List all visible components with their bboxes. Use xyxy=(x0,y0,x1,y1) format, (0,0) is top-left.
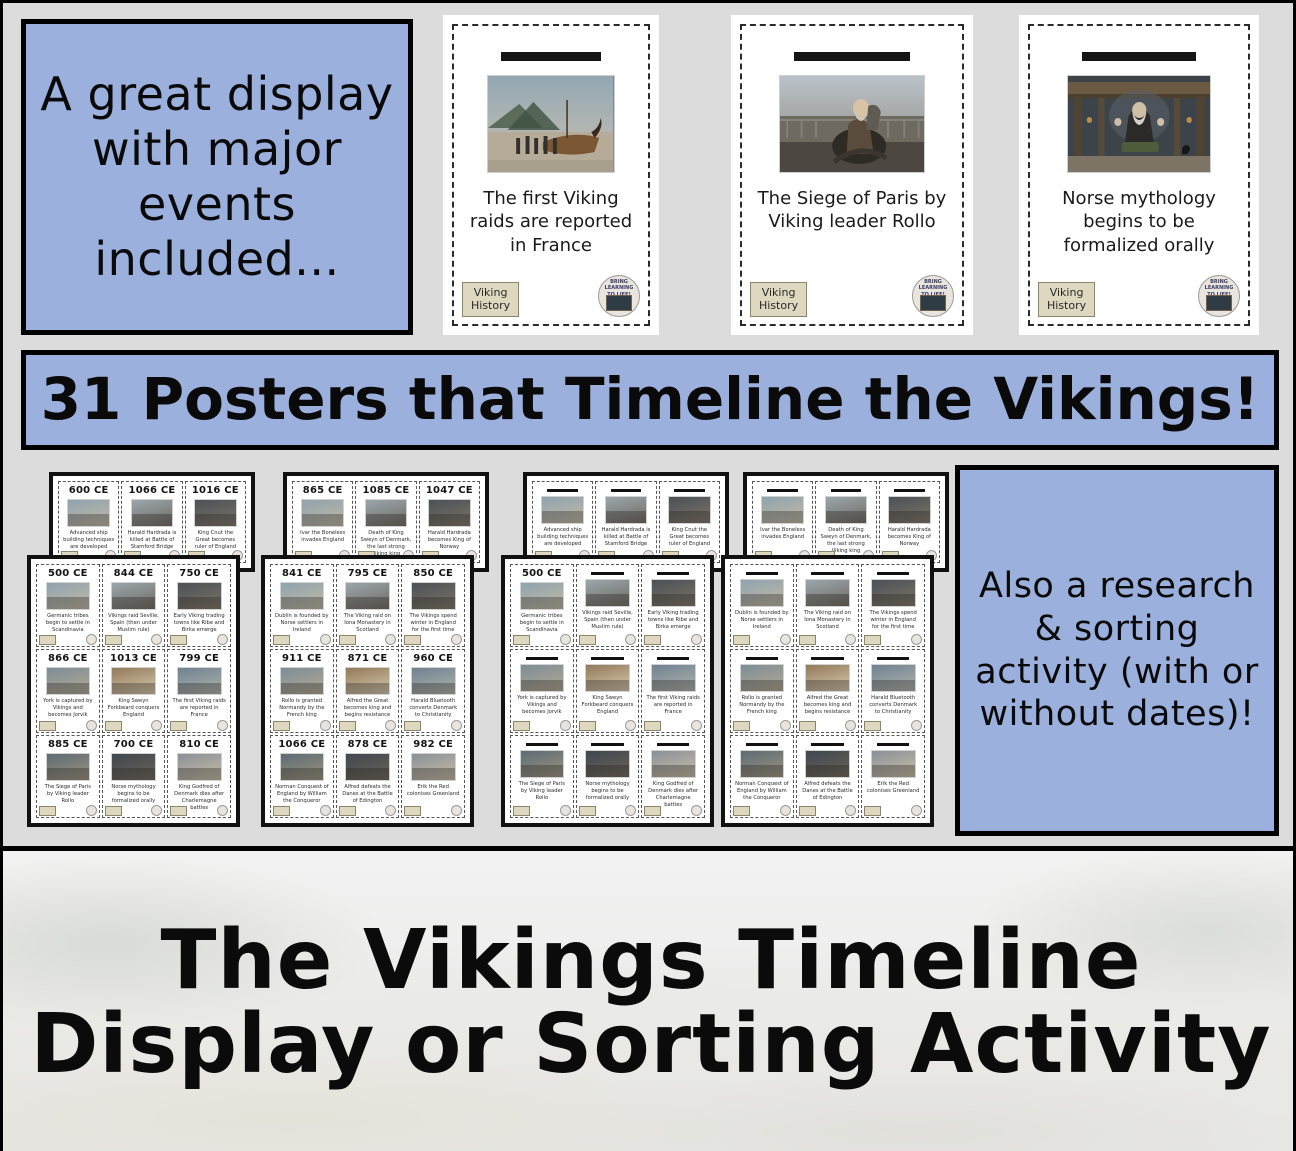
mini-card-badge-row xyxy=(644,636,702,645)
mini-card-image xyxy=(177,667,222,695)
mini-card-image xyxy=(805,750,850,778)
mini-brand-logo-icon xyxy=(691,720,702,731)
mini-card-image xyxy=(280,753,325,781)
callout-display-text: A great display with major events includ… xyxy=(26,67,408,288)
mini-card-badge-row xyxy=(404,807,462,816)
mini-card-date: 500 CE xyxy=(522,568,562,579)
mini-card-image xyxy=(345,667,390,695)
mini-brand-logo-icon xyxy=(217,634,228,645)
mini-subject-tag-badge xyxy=(170,635,187,645)
mini-subject-tag-badge xyxy=(644,806,661,816)
mini-card-badge-row xyxy=(170,807,228,816)
mini-card-blank-date-line xyxy=(591,657,623,660)
mini-card-badge-row xyxy=(579,807,637,816)
sorting-mini-card: Harald Hardrada is killed at Battle of S… xyxy=(595,481,656,563)
mini-card-image xyxy=(365,499,408,527)
mini-card-badge-row xyxy=(105,636,163,645)
mini-card-date: 850 CE xyxy=(413,568,453,579)
subject-tag-line1: Viking xyxy=(1047,286,1086,300)
mini-card-badge-row xyxy=(864,722,922,731)
subject-tag-badge: Viking History xyxy=(750,282,807,318)
mini-subject-tag-badge xyxy=(644,635,661,645)
sorting-mini-card: 799 CEThe first Viking raids are reporte… xyxy=(167,649,231,732)
mini-card-caption: King Sweyn Forkbeard conquers England xyxy=(105,698,163,719)
sorting-mini-card: 700 CENorse mythology begins to be forma… xyxy=(102,735,166,818)
sorting-mini-card: Ivar the Boneless invades England xyxy=(752,481,813,563)
sorting-mini-card: York is captured by Vikings and becomes … xyxy=(510,649,574,732)
mini-brand-logo-icon xyxy=(780,634,791,645)
mini-card-image xyxy=(668,496,711,524)
mini-card-date: 878 CE xyxy=(348,739,388,750)
mini-card-image xyxy=(177,582,222,610)
sorting-mini-card: 841 CEDublin is founded by Norse settler… xyxy=(270,564,334,647)
mini-card-image xyxy=(651,750,696,778)
mini-subject-tag-badge xyxy=(864,806,881,816)
mini-card-image xyxy=(111,753,156,781)
sorting-mini-card: 1047 CEHarald Hardrada becomes King of N… xyxy=(419,481,480,563)
mini-card-badge-row xyxy=(273,636,331,645)
mini-card-caption: Vikings raid Seville, Spain (then under … xyxy=(105,613,163,634)
mini-card-date: 1047 CE xyxy=(426,485,473,496)
mini-card-image xyxy=(46,667,91,695)
mini-card-image xyxy=(411,753,456,781)
mini-card-badge-row xyxy=(513,722,571,731)
mini-card-badge-row xyxy=(339,722,397,731)
mini-card-blank-date-line xyxy=(547,489,578,492)
mini-card-image xyxy=(740,664,785,692)
mini-card-date: 866 CE xyxy=(48,653,88,664)
mini-card-caption: The Vikings spend winter in England for … xyxy=(404,613,462,634)
mini-card-badge-row xyxy=(404,636,462,645)
sorting-mini-card: 885 CEThe Siege of Paris by Viking leade… xyxy=(36,735,100,818)
mini-card-caption: York is captured by Vikings and becomes … xyxy=(513,695,571,716)
mini-card-caption: Norman Conquest of England by William th… xyxy=(273,784,331,805)
mini-card-badge-row xyxy=(404,722,462,731)
mini-card-badge-row xyxy=(864,636,922,645)
mini-card-caption: Early Viking trading towns like Ribe and… xyxy=(644,610,702,631)
mini-brand-logo-icon xyxy=(780,720,791,731)
sorting-mini-card: Alfred defeats the Danes at the Battle o… xyxy=(796,735,860,818)
mini-brand-logo-icon xyxy=(451,720,462,731)
sorting-mini-card: King Sweyn Forkbeard conquers England xyxy=(576,649,640,732)
mini-card-image xyxy=(345,582,390,610)
mini-card-date: 700 CE xyxy=(114,739,154,750)
mini-brand-logo-icon xyxy=(625,634,636,645)
mini-subject-tag-badge xyxy=(273,806,290,816)
date-rule-icon xyxy=(1082,52,1197,61)
callout-panel-activity: Also a research & sorting activity (with… xyxy=(955,465,1279,836)
mini-card-image xyxy=(67,499,110,527)
sorting-mini-card: 1066 CENorman Conquest of England by Wil… xyxy=(270,735,334,818)
mini-brand-logo-icon xyxy=(217,720,228,731)
mini-card-image xyxy=(605,496,648,524)
mini-brand-logo-icon xyxy=(385,634,396,645)
subject-tag-badge: Viking History xyxy=(462,282,519,318)
mini-brand-logo-icon xyxy=(151,720,162,731)
mini-card-blank-date-line xyxy=(657,572,689,575)
mini-card-blank-date-line xyxy=(894,489,925,492)
sorting-mini-card: 871 CEAlfred the Great becomes king and … xyxy=(336,649,400,732)
mini-subject-tag-badge xyxy=(404,721,421,731)
mini-subject-tag-badge xyxy=(733,635,750,645)
hero-title-section: The Vikings Timeline Display or Sorting … xyxy=(3,846,1296,1151)
mini-card-caption: The Vikings spend winter in England for … xyxy=(864,610,922,631)
mini-card-badge-row xyxy=(799,636,857,645)
mini-card-image xyxy=(428,499,471,527)
mini-card-blank-date-line xyxy=(811,743,843,746)
card-sheet-front: 500 CEGermanic tribes begin to settle in… xyxy=(27,555,240,827)
mini-card-caption: Norse mythology begins to be formalized … xyxy=(579,781,637,802)
callout-panel-display: A great display with major events includ… xyxy=(21,19,413,335)
mini-card-caption: The Viking raid on Iona Monastery in Sco… xyxy=(799,610,857,631)
poster-image-siege-of-paris xyxy=(779,75,925,173)
mini-brand-logo-icon xyxy=(86,720,97,731)
mini-card-blank-date-line xyxy=(591,572,623,575)
sorting-mini-card: Dublin is founded by Norse settlers in I… xyxy=(730,564,794,647)
mini-subject-tag-badge xyxy=(579,721,596,731)
mini-subject-tag-badge xyxy=(339,635,356,645)
mini-card-badge-row xyxy=(644,807,702,816)
mini-card-image xyxy=(825,496,868,524)
mini-card-badge-row xyxy=(733,807,791,816)
mini-subject-tag-badge xyxy=(799,635,816,645)
mini-card-blank-date-line xyxy=(746,743,778,746)
mini-subject-tag-badge xyxy=(105,721,122,731)
subject-tag-line1: Viking xyxy=(759,286,798,300)
mini-subject-tag-badge xyxy=(39,806,56,816)
mini-card-badge-row xyxy=(339,807,397,816)
sorting-mini-card: 865 CEIvar the Boneless invades England xyxy=(292,481,353,563)
poster-image-norse-longhouse xyxy=(1067,75,1212,173)
mini-card-badge-row xyxy=(644,722,702,731)
mini-card-caption: Harald Hardrada is killed at Battle of S… xyxy=(598,527,653,548)
mini-card-image xyxy=(301,499,344,527)
headline-banner-text: 31 Posters that Timeline the Vikings! xyxy=(41,366,1260,433)
mini-card-caption: Early Viking trading towns like Ribe and… xyxy=(170,613,228,634)
mini-brand-logo-icon xyxy=(320,720,331,731)
mini-brand-logo-icon xyxy=(625,720,636,731)
mini-brand-logo-icon xyxy=(911,720,922,731)
mini-brand-logo-icon xyxy=(845,805,856,816)
card-sheet-front: 841 CEDublin is founded by Norse settler… xyxy=(261,555,474,827)
mini-card-caption: Harald Hardrada is killed at Battle of S… xyxy=(124,530,179,551)
mini-card-image xyxy=(651,579,696,607)
mini-card-date: 799 CE xyxy=(179,653,219,664)
sorting-mini-card: 750 CEEarly Viking trading towns like Ri… xyxy=(167,564,231,647)
mini-subject-tag-badge xyxy=(799,721,816,731)
poster-badge-row: Viking History BRING LEARNING TO LIFE! xyxy=(750,277,954,317)
mini-card-badge-row xyxy=(733,636,791,645)
mini-card-image xyxy=(520,582,565,610)
sorting-mini-card: 850 CEThe Vikings spend winter in Englan… xyxy=(401,564,465,647)
subject-tag-badge: Viking History xyxy=(1038,282,1095,318)
mini-card-blank-date-line xyxy=(746,657,778,660)
mini-brand-logo-icon xyxy=(217,805,228,816)
sorting-mini-card: 844 CEVikings raid Seville, Spain (then … xyxy=(102,564,166,647)
poster-caption: The Siege of Paris by Viking leader Roll… xyxy=(752,187,952,234)
mini-card-date: 982 CE xyxy=(413,739,453,750)
mini-card-badge-row xyxy=(339,636,397,645)
sorting-mini-card: Early Viking trading towns like Ribe and… xyxy=(641,564,705,647)
mini-card-caption: Dublin is founded by Norse settlers in I… xyxy=(733,610,791,631)
mini-card-caption: Rollo is granted Normandy by the French … xyxy=(273,698,331,719)
mini-subject-tag-badge xyxy=(39,721,56,731)
mini-subject-tag-badge xyxy=(799,806,816,816)
poster-badge-row: Viking History BRING LEARNING TO LIFE! xyxy=(462,277,640,317)
mini-card-date: 1013 CE xyxy=(110,653,157,664)
headline-banner: 31 Posters that Timeline the Vikings! xyxy=(21,350,1279,450)
mini-brand-logo-icon xyxy=(560,805,571,816)
mini-subject-tag-badge xyxy=(513,721,530,731)
sorting-mini-card: 1066 CEHarald Hardrada is killed at Batt… xyxy=(121,481,182,563)
mini-subject-tag-badge xyxy=(170,721,187,731)
mini-card-badge-row xyxy=(39,807,97,816)
poster-preview-card: The first Viking raids are reported in F… xyxy=(443,15,659,335)
poster-badge-row: Viking History BRING LEARNING TO LIFE! xyxy=(1038,277,1240,317)
mini-subject-tag-badge xyxy=(170,806,187,816)
mini-card-badge-row xyxy=(39,722,97,731)
mini-card-image xyxy=(740,579,785,607)
mini-card-caption: The first Viking raids are reported in F… xyxy=(170,698,228,719)
mini-card-date: 871 CE xyxy=(348,653,388,664)
sorting-mini-card: King Godfred of Denmark dies after Charl… xyxy=(641,735,705,818)
mini-card-date: 865 CE xyxy=(303,485,343,496)
mini-card-caption: The Viking raid on Iona Monastery in Sco… xyxy=(339,613,397,634)
mini-card-blank-date-line xyxy=(811,657,843,660)
mini-card-caption: Advanced ship building techniques are de… xyxy=(535,527,590,548)
mini-card-caption: Vikings raid Seville, Spain (then under … xyxy=(579,610,637,631)
mini-card-date: 1066 CE xyxy=(278,739,325,750)
mini-subject-tag-badge xyxy=(579,806,596,816)
mini-card-image xyxy=(651,664,696,692)
sorting-mini-card: 1013 CEKing Sweyn Forkbeard conquers Eng… xyxy=(102,649,166,732)
mini-card-caption: King Cnut the Great becomes ruler of Eng… xyxy=(662,527,717,548)
mini-subject-tag-badge xyxy=(733,721,750,731)
mini-subject-tag-badge xyxy=(404,806,421,816)
mini-card-image xyxy=(411,582,456,610)
sorting-mini-card: 500 CEGermanic tribes begin to settle in… xyxy=(510,564,574,647)
mini-card-blank-date-line xyxy=(877,572,909,575)
mini-card-date: 1016 CE xyxy=(192,485,239,496)
mini-card-caption: Erik the Red colonises Greenland xyxy=(404,784,462,798)
mini-card-image xyxy=(761,496,804,524)
mini-card-image xyxy=(411,667,456,695)
mini-card-date: 1085 CE xyxy=(363,485,410,496)
mini-subject-tag-badge xyxy=(404,635,421,645)
card-sheet-group: 865 CEIvar the Boneless invades England1… xyxy=(261,458,501,843)
mini-card-caption: Alfred the Great becomes king and begins… xyxy=(339,698,397,719)
mini-card-date: 795 CE xyxy=(348,568,388,579)
mini-card-image xyxy=(871,664,916,692)
mini-subject-tag-badge xyxy=(273,721,290,731)
mini-card-blank-date-line xyxy=(657,657,689,660)
mini-brand-logo-icon xyxy=(151,805,162,816)
mini-card-badge-row xyxy=(799,807,857,816)
mini-card-badge-row xyxy=(39,636,97,645)
mini-card-image xyxy=(280,667,325,695)
mini-card-date: 911 CE xyxy=(282,653,322,664)
mini-brand-logo-icon xyxy=(560,634,571,645)
mini-card-image xyxy=(805,579,850,607)
product-cover-page: A great display with major events includ… xyxy=(0,0,1296,1151)
subject-tag-line1: Viking xyxy=(471,286,510,300)
mini-card-image xyxy=(280,582,325,610)
subject-tag-line2: History xyxy=(471,299,510,313)
mini-card-image xyxy=(177,753,222,781)
mini-brand-logo-icon xyxy=(911,634,922,645)
poster-preview-card: Norse mythology begins to be formalized … xyxy=(1019,15,1259,335)
sorting-mini-card: Death of King Sweyn of Denmark, the last… xyxy=(815,481,876,563)
mini-card-caption: Norman Conquest of England by William th… xyxy=(733,781,791,802)
mini-card-caption: Advanced ship building techniques are de… xyxy=(61,530,116,551)
mini-card-caption: Ivar the Boneless invades England xyxy=(755,527,810,541)
subject-tag-line2: History xyxy=(759,299,798,313)
mini-card-image xyxy=(585,579,630,607)
sorting-mini-card: Advanced ship building techniques are de… xyxy=(532,481,593,563)
mini-subject-tag-badge xyxy=(339,806,356,816)
mini-card-date: 500 CE xyxy=(48,568,88,579)
mini-card-caption: The Siege of Paris by Viking leader Roll… xyxy=(39,784,97,805)
sorting-mini-card: 810 CEKing Godfred of Denmark dies after… xyxy=(167,735,231,818)
mini-brand-logo-icon xyxy=(86,634,97,645)
mini-card-badge-row xyxy=(105,807,163,816)
mini-card-image xyxy=(111,582,156,610)
mini-card-caption: The first Viking raids are reported in F… xyxy=(644,695,702,716)
mini-brand-logo-icon xyxy=(691,805,702,816)
mini-card-badge-row xyxy=(513,636,571,645)
callout-activity-text: Also a research & sorting activity (with… xyxy=(960,565,1274,736)
mini-card-badge-row xyxy=(579,722,637,731)
logo-line2: LEARNING xyxy=(1199,285,1239,291)
mini-card-badge-row xyxy=(864,807,922,816)
mini-card-image xyxy=(111,667,156,695)
mini-card-caption: King Cnut the Great becomes ruler of Eng… xyxy=(188,530,243,551)
mini-card-image xyxy=(46,753,91,781)
mini-card-image xyxy=(871,579,916,607)
date-rule-icon xyxy=(501,52,602,61)
mini-card-date: 885 CE xyxy=(48,739,88,750)
mini-card-date: 960 CE xyxy=(413,653,453,664)
mini-card-image xyxy=(520,750,565,778)
mini-brand-logo-icon xyxy=(451,634,462,645)
mini-subject-tag-badge xyxy=(644,721,661,731)
mini-brand-logo-icon xyxy=(451,805,462,816)
sorting-mini-card: 1016 CEKing Cnut the Great becomes ruler… xyxy=(185,481,246,563)
subject-tag-line2: History xyxy=(1047,299,1086,313)
mini-brand-logo-icon xyxy=(911,805,922,816)
mini-card-blank-date-line xyxy=(657,743,689,746)
mini-brand-logo-icon xyxy=(780,805,791,816)
mini-card-blank-date-line xyxy=(767,489,798,492)
sorting-mini-card: The Vikings spend winter in England for … xyxy=(861,564,925,647)
poster-image-longship xyxy=(487,75,614,173)
mini-card-blank-date-line xyxy=(674,489,705,492)
mini-brand-logo-icon xyxy=(625,805,636,816)
sorting-mini-card: Alfred the Great becomes king and begins… xyxy=(796,649,860,732)
mini-card-blank-date-line xyxy=(591,743,623,746)
mini-card-caption: Harald Hardrada becomes King of Norway xyxy=(882,527,937,548)
mini-card-image xyxy=(740,750,785,778)
mini-brand-logo-icon xyxy=(385,805,396,816)
sorting-mini-card: Erik the Red colonises Greenland xyxy=(861,735,925,818)
card-sheet-front: Dublin is founded by Norse settlers in I… xyxy=(721,555,934,827)
mini-card-caption: Rollo is granted Normandy by the French … xyxy=(733,695,791,716)
mini-card-image xyxy=(541,496,584,524)
mini-brand-logo-icon xyxy=(691,634,702,645)
logo-line2: LEARNING xyxy=(913,285,953,291)
sorting-mini-card: 500 CEGermanic tribes begin to settle in… xyxy=(36,564,100,647)
mini-subject-tag-badge xyxy=(105,635,122,645)
mini-subject-tag-badge xyxy=(39,635,56,645)
sorting-mini-card: 878 CEAlfred defeats the Danes at the Ba… xyxy=(336,735,400,818)
mini-card-date: 750 CE xyxy=(179,568,219,579)
mini-card-caption: Ivar the Boneless invades England xyxy=(295,530,350,544)
mini-card-date: 600 CE xyxy=(69,485,109,496)
sorting-mini-card: Norse mythology begins to be formalized … xyxy=(576,735,640,818)
sorting-mini-card: Harald Hardrada becomes King of Norway xyxy=(879,481,940,563)
mini-card-badge-row xyxy=(105,722,163,731)
logo-line2: LEARNING xyxy=(599,285,639,291)
mini-card-caption: Harald Hardrada becomes King of Norway xyxy=(422,530,477,551)
mini-card-blank-date-line xyxy=(526,743,558,746)
mini-brand-logo-icon xyxy=(560,720,571,731)
mini-card-blank-date-line xyxy=(877,657,909,660)
sorting-mini-card: The first Viking raids are reported in F… xyxy=(641,649,705,732)
mini-brand-logo-icon xyxy=(86,805,97,816)
mini-brand-logo-icon xyxy=(845,634,856,645)
mini-card-image xyxy=(46,582,91,610)
sorting-mini-card: 866 CEYork is captured by Vikings and be… xyxy=(36,649,100,732)
mini-card-caption: Germanic tribes begin to settle in Scand… xyxy=(39,613,97,634)
mini-card-caption: Harald Bluetooth converts Denmark to Chr… xyxy=(404,698,462,719)
mini-brand-logo-icon xyxy=(151,634,162,645)
mini-card-caption: York is captured by Vikings and becomes … xyxy=(39,698,97,719)
mini-card-blank-date-line xyxy=(526,657,558,660)
mini-subject-tag-badge xyxy=(864,721,881,731)
sorting-mini-card: King Cnut the Great becomes ruler of Eng… xyxy=(659,481,720,563)
mini-brand-logo-icon xyxy=(845,720,856,731)
mini-card-image xyxy=(520,664,565,692)
mini-card-date: 844 CE xyxy=(114,568,154,579)
mini-card-caption: Alfred defeats the Danes at the Battle o… xyxy=(799,781,857,802)
mini-card-caption: Alfred defeats the Danes at the Battle o… xyxy=(339,784,397,805)
mini-card-badge-row xyxy=(170,636,228,645)
card-sheet-group: Advanced ship building techniques are de… xyxy=(501,458,741,843)
brand-logo-icon: BRING LEARNING TO LIFE! xyxy=(912,275,954,317)
card-sheet-group: Ivar the Boneless invades EnglandDeath o… xyxy=(721,458,961,843)
mini-card-blank-date-line xyxy=(746,572,778,575)
card-sheet-front: 500 CEGermanic tribes begin to settle in… xyxy=(501,555,714,827)
mini-card-badge-row xyxy=(733,722,791,731)
brand-logo-icon: BRING LEARNING TO LIFE! xyxy=(598,275,640,317)
mini-card-image xyxy=(131,499,174,527)
card-sheet-group: 600 CEAdvanced ship building techniques … xyxy=(27,458,267,843)
mini-card-blank-date-line xyxy=(831,489,862,492)
sorting-mini-card: Harald Bluetooth converts Denmark to Chr… xyxy=(861,649,925,732)
mini-card-image xyxy=(585,664,630,692)
hero-title-line2: Display or Sorting Activity xyxy=(30,1004,1271,1086)
mini-subject-tag-badge xyxy=(733,806,750,816)
mini-card-image xyxy=(888,496,931,524)
date-rule-icon xyxy=(794,52,910,61)
mini-card-caption: The Siege of Paris by Viking leader Roll… xyxy=(513,781,571,802)
mini-card-date: 1066 CE xyxy=(129,485,176,496)
mini-card-image xyxy=(194,499,237,527)
mini-card-badge-row xyxy=(170,722,228,731)
mini-subject-tag-badge xyxy=(273,635,290,645)
mini-card-caption: Dublin is founded by Norse settlers in I… xyxy=(273,613,331,634)
mini-card-image xyxy=(585,750,630,778)
